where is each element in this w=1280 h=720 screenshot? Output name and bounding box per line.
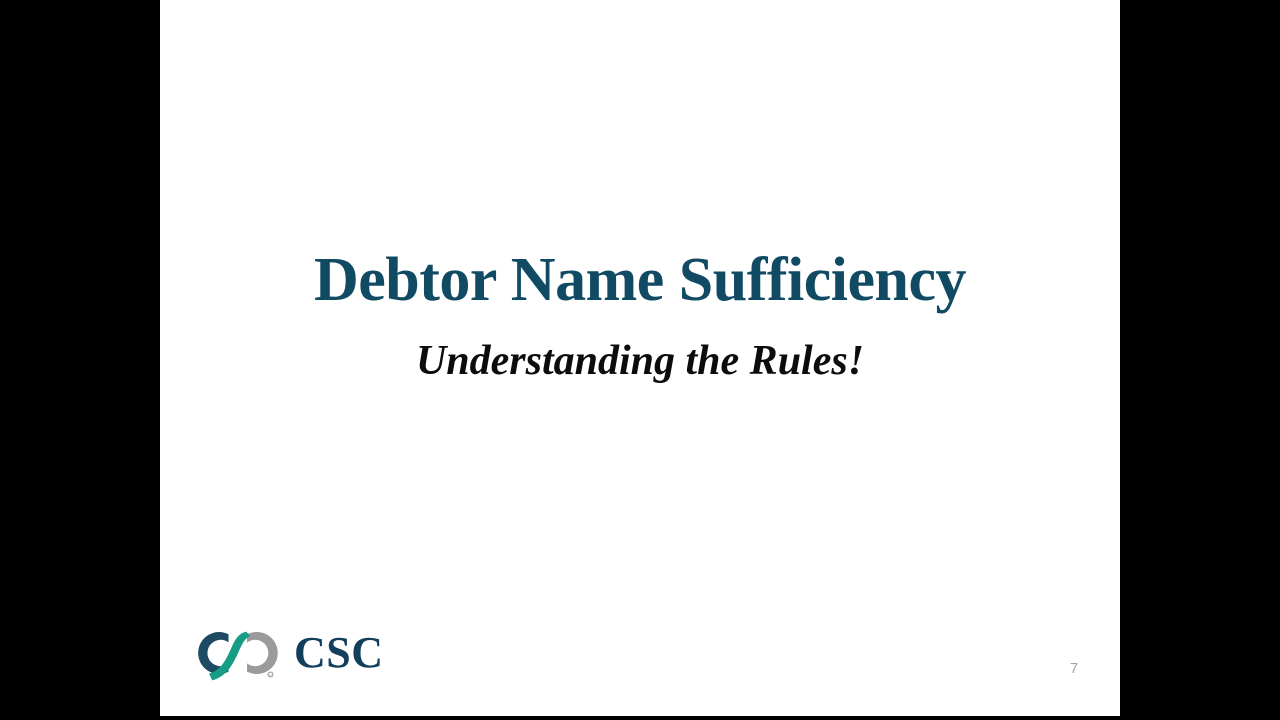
page-number: 7 [1054, 660, 1094, 677]
csc-wordmark: CSC [294, 631, 384, 675]
slide-canvas: Debtor Name Sufficiency Understanding th… [160, 0, 1120, 716]
letterbox-right [1120, 0, 1280, 720]
letterbox-bottom [0, 716, 1280, 720]
csc-infinity-mark-icon: R [188, 624, 288, 682]
title-block: Debtor Name Sufficiency Understanding th… [160, 248, 1120, 383]
slide-subtitle: Understanding the Rules! [160, 313, 1120, 383]
csc-logo: R CSC [188, 622, 384, 684]
letterbox-left [0, 0, 160, 720]
slide-title: Debtor Name Sufficiency [160, 248, 1120, 313]
presentation-viewport: Debtor Name Sufficiency Understanding th… [0, 0, 1280, 720]
